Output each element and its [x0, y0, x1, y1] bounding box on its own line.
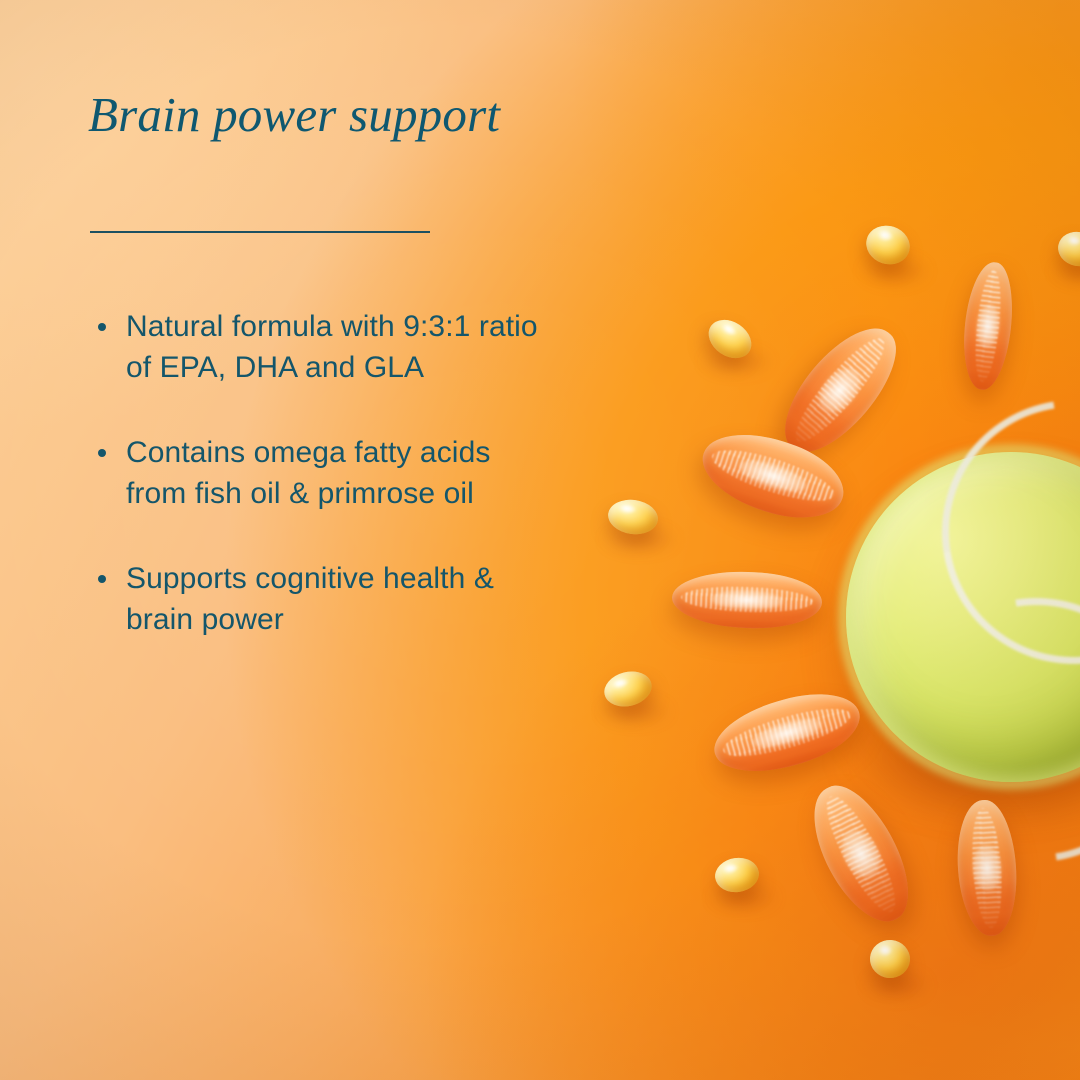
text-panel: Brain power support Natural formula with… — [88, 0, 558, 1080]
bullet-dot-icon — [98, 449, 106, 457]
list-item-label: Supports cognitive health & brain power — [126, 562, 494, 636]
list-item-label: Natural formula with 9:3:1 ratio of EPA,… — [126, 310, 538, 384]
list-item: Contains omega fatty acids from fish oil… — [94, 432, 556, 514]
page-title: Brain power support — [88, 86, 508, 144]
bullet-dot-icon — [98, 575, 106, 583]
list-item-label: Contains omega fatty acids from fish oil… — [126, 436, 490, 510]
list-item: Natural formula with 9:3:1 ratio of EPA,… — [94, 306, 556, 388]
promo-card: Brain power support Natural formula with… — [0, 0, 1080, 1080]
list-item: Supports cognitive health & brain power — [94, 558, 556, 640]
title-divider — [90, 231, 430, 233]
bullet-dot-icon — [98, 323, 106, 331]
feature-list: Natural formula with 9:3:1 ratio of EPA,… — [94, 306, 556, 640]
